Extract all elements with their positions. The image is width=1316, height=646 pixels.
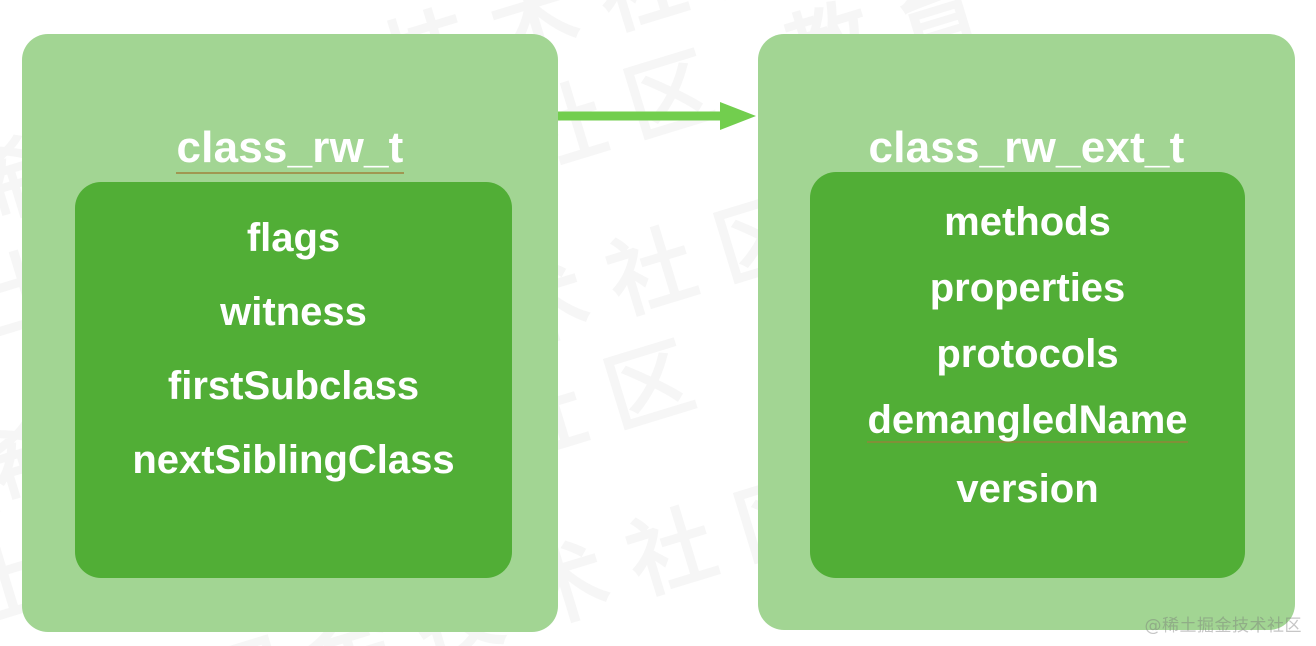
field-item: methods: [944, 202, 1111, 242]
field-item: properties: [930, 268, 1126, 308]
node-class-rw-ext-t: class_rw_ext_t methods properties protoc…: [758, 34, 1295, 630]
node-title-class-rw-t: class_rw_t: [22, 126, 558, 174]
node-title-text: class_rw_ext_t: [869, 126, 1185, 174]
field-item: firstSubclass: [168, 366, 419, 406]
corner-watermark: @稀土掘金技术社区: [1145, 611, 1303, 636]
field-item: flags: [247, 218, 340, 258]
field-list-class-rw-ext-t: methods properties protocols demangledNa…: [810, 172, 1245, 578]
node-title-class-rw-ext-t: class_rw_ext_t: [758, 126, 1295, 174]
node-title-text: class_rw_t: [176, 126, 403, 174]
field-item: nextSiblingClass: [132, 440, 454, 480]
field-item: protocols: [936, 334, 1118, 374]
field-item: demangledName: [867, 400, 1187, 443]
field-item: witness: [220, 292, 367, 332]
relationship-arrow-icon: [558, 100, 758, 132]
field-item: version: [956, 469, 1098, 509]
field-list-class-rw-t: flags witness firstSubclass nextSiblingC…: [75, 182, 512, 578]
node-class-rw-t: class_rw_t flags witness firstSubclass n…: [22, 34, 558, 632]
diagram-canvas: 稀土掘金技术社区 教育 稀土掘金技术社区 教育 稀土掘金技术社区 教育 稀土掘金…: [0, 0, 1316, 646]
